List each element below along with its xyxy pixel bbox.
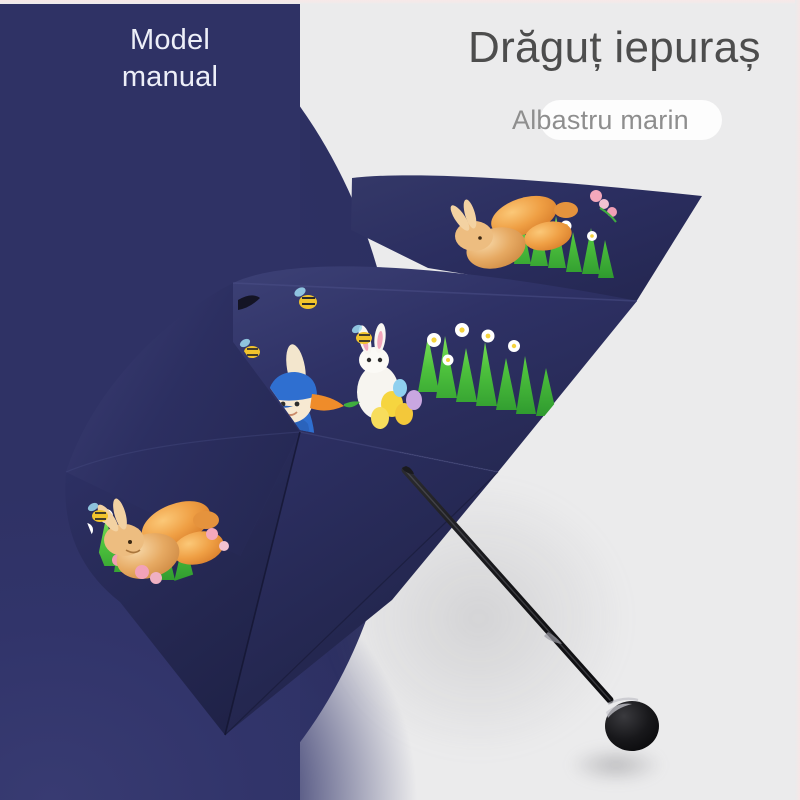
page-title: Drăguț iepuraș bbox=[468, 20, 761, 76]
model-manual-line1: Model bbox=[55, 22, 285, 59]
model-manual-label: Model manual bbox=[55, 22, 285, 96]
model-manual-line2: manual bbox=[55, 59, 285, 96]
color-variant-badge: Albastru marin bbox=[512, 98, 689, 142]
color-variant-label: Albastru marin bbox=[512, 98, 689, 142]
umbrella-shaft-highlight bbox=[405, 470, 610, 700]
screenshot-stage: Model manual Drăguț iepuraș Albastru mar… bbox=[0, 0, 800, 800]
